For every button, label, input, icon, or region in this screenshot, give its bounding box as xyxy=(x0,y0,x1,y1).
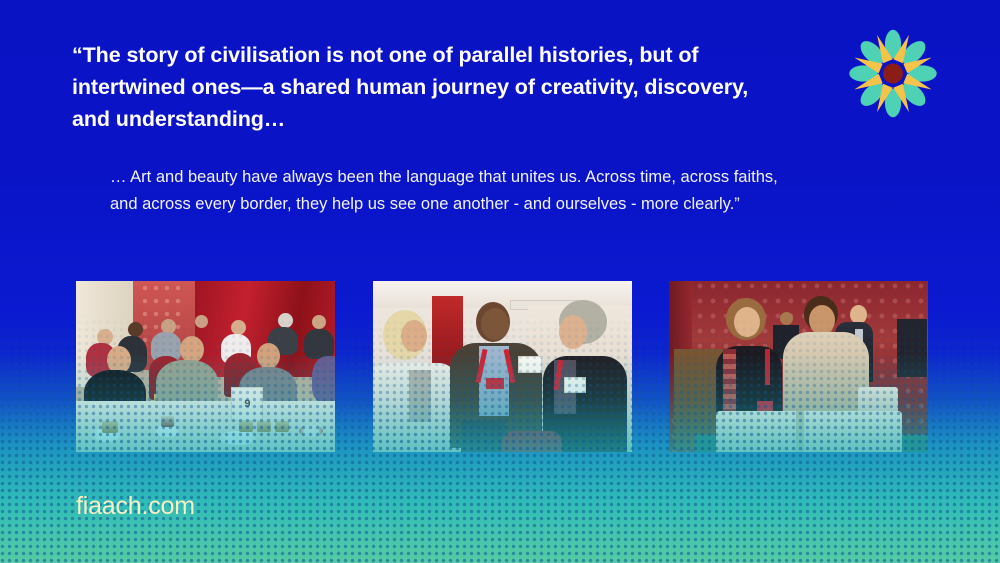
logo-center-dot xyxy=(883,64,903,84)
photo-three-delegates-talking xyxy=(373,281,632,452)
photo-guest-book-signing xyxy=(669,281,928,452)
brand-logo xyxy=(843,26,943,121)
starburst-icon xyxy=(849,30,936,117)
photo-banquet-hall: 9 xyxy=(76,281,335,452)
photo-strip: 9 xyxy=(76,281,928,452)
quote-body-text: … Art and beauty have always been the la… xyxy=(110,164,800,217)
page-title: “The story of civilisation is not one of… xyxy=(72,40,772,135)
table-number-card: 9 xyxy=(231,387,263,421)
website-url[interactable]: fiaach.com xyxy=(76,492,195,521)
presentation-slide: “The story of civilisation is not one of… xyxy=(0,0,1000,563)
